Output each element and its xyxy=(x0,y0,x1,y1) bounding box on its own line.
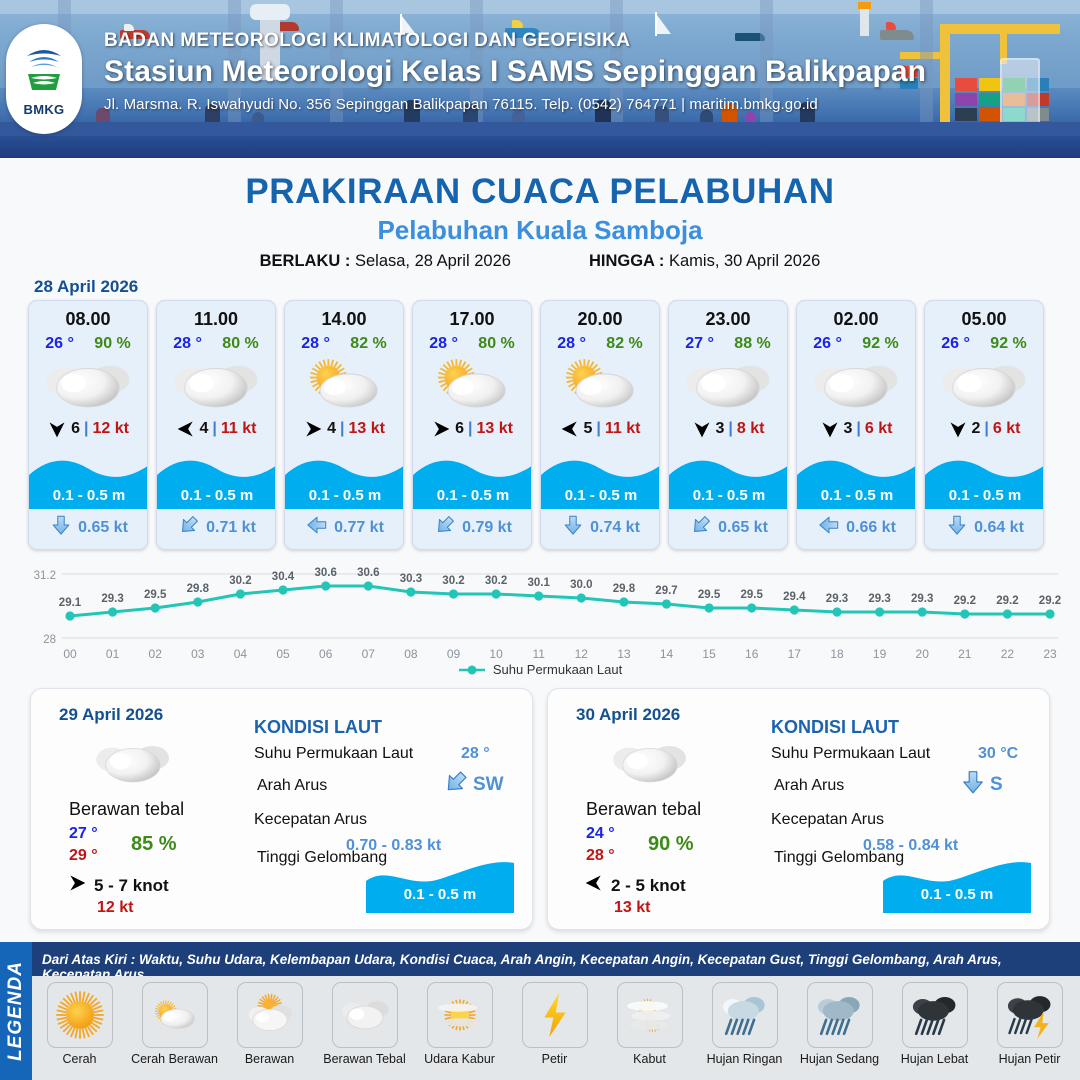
card-temperature: 26 ° xyxy=(941,335,970,353)
legend-item-label: Cerah Berawan xyxy=(131,1052,218,1066)
card-weather-icon xyxy=(413,357,531,411)
panel-sst-value: 30 °C xyxy=(978,745,1018,763)
svg-text:11: 11 xyxy=(532,647,545,661)
legend-icon-sun-cloud-icon xyxy=(142,982,208,1048)
card-humidity: 80 % xyxy=(478,335,514,353)
legend-icon-thunderstorm-icon xyxy=(997,982,1063,1048)
svg-text:29.5: 29.5 xyxy=(741,589,764,601)
card-current-speed: 0.64 kt xyxy=(974,519,1024,537)
svg-text:30.4: 30.4 xyxy=(272,571,295,583)
hourly-forecast-cards: 08.00 26 ° 90 % 6 | 12 kt 0.1 - 0. xyxy=(28,300,1052,550)
legend-icon-sun-icon xyxy=(47,982,113,1048)
hourly-card: 11.00 28 ° 80 % 4 | 11 kt 0.1 - 0. xyxy=(156,300,276,550)
card-time: 20.00 xyxy=(541,309,659,330)
panel-temp-min: 27 ° xyxy=(69,825,98,843)
legend-item-label: Hujan Sedang xyxy=(800,1052,879,1066)
legend-icon-sun-clouds-icon xyxy=(237,982,303,1048)
legend-icon-heavy-rain-icon xyxy=(902,982,968,1048)
card-time: 23.00 xyxy=(669,309,787,330)
hourly-card: 23.00 27 ° 88 % 3 | 8 kt 0.1 - 0.5 xyxy=(668,300,788,550)
card-separator: | xyxy=(340,420,344,438)
hingga-group: HINGGA : Kamis, 30 April 2026 xyxy=(589,252,820,271)
card-humidity: 82 % xyxy=(350,335,386,353)
svg-text:16: 16 xyxy=(745,647,759,661)
svg-text:29.2: 29.2 xyxy=(954,595,976,607)
card-wind-speed: 6 xyxy=(71,420,80,438)
card-wave-band: 0.1 - 0.5 m xyxy=(29,455,148,509)
card-humidity: 80 % xyxy=(222,335,258,353)
card-humidity: 90 % xyxy=(94,335,130,353)
svg-text:30.6: 30.6 xyxy=(315,567,337,579)
panel-current-dir-group: S xyxy=(960,769,1003,800)
svg-text:05: 05 xyxy=(276,647,290,661)
card-weather-icon xyxy=(285,357,403,411)
svg-text:30.2: 30.2 xyxy=(485,575,507,587)
hourly-card: 02.00 26 ° 92 % 3 | 6 kt 0.1 - 0.5 xyxy=(796,300,916,550)
panel-current-speed-label: Kecepatan Arus xyxy=(254,811,367,829)
svg-text:29.3: 29.3 xyxy=(826,593,848,605)
panel-sst-label: Suhu Permukaan Laut xyxy=(771,745,930,763)
hourly-card: 05.00 26 ° 92 % 2 | 6 kt 0.1 - 0.5 xyxy=(924,300,1044,550)
svg-text:29.5: 29.5 xyxy=(144,589,167,601)
panel-current-dir-label: Arah Arus xyxy=(774,777,844,795)
card-weather-icon xyxy=(797,357,915,411)
hourly-card: 14.00 28 ° 82 % 4 | 13 kt xyxy=(284,300,404,550)
panel-current-speed-label: Kecepatan Arus xyxy=(771,811,884,829)
panel-current-dir-label: Arah Arus xyxy=(257,777,327,795)
hourly-card: 20.00 28 ° 82 % 5 | 11 kt xyxy=(540,300,660,550)
card-wind-speed: 3 xyxy=(716,420,725,438)
wind-direction-icon xyxy=(820,419,840,439)
current-direction-icon xyxy=(50,514,72,541)
hourly-date-label: 28 April 2026 xyxy=(34,277,138,297)
card-temperature: 27 ° xyxy=(685,335,714,353)
daily-forecast-panel: 30 April 2026 Berawan tebal 24 ° 28 ° 90… xyxy=(547,688,1050,930)
card-gust: 13 kt xyxy=(476,420,512,438)
svg-text:04: 04 xyxy=(234,647,248,661)
legend-item: Cerah xyxy=(32,982,127,1066)
legend-item: Berawan xyxy=(222,982,317,1066)
legend-item-label: Berawan xyxy=(245,1052,294,1066)
hingga-value: Kamis, 30 April 2026 xyxy=(669,252,820,270)
card-weather-icon xyxy=(541,357,659,411)
panel-wave-band xyxy=(883,857,1031,913)
panel-wind-range: 2 - 5 knot xyxy=(611,876,686,896)
hourly-card: 08.00 26 ° 90 % 6 | 12 kt 0.1 - 0. xyxy=(28,300,148,550)
svg-text:30.6: 30.6 xyxy=(357,567,379,579)
card-weather-icon xyxy=(925,357,1043,411)
card-separator: | xyxy=(728,420,732,438)
card-weather-icon xyxy=(157,357,275,411)
svg-text:00: 00 xyxy=(63,647,77,661)
bmkg-logo-text: BMKG xyxy=(24,102,65,117)
panel-current-direction-icon xyxy=(960,769,986,800)
card-temperature: 28 ° xyxy=(557,335,586,353)
card-wave-height: 0.1 - 0.5 m xyxy=(797,487,916,504)
card-separator: | xyxy=(856,420,860,438)
panel-wind: 5 - 7 knot xyxy=(67,873,169,898)
card-gust: 13 kt xyxy=(348,420,384,438)
header-banner: BMKG BADAN METEOROLOGI KLIMATOLOGI DAN G… xyxy=(0,0,1080,158)
legend-item: Cerah Berawan xyxy=(127,982,222,1066)
legend-icon-lightning-icon xyxy=(522,982,588,1048)
panel-current-direction-icon xyxy=(443,769,469,800)
card-current-speed: 0.77 kt xyxy=(334,519,384,537)
panel-weather-icon xyxy=(610,737,690,787)
legend-item-label: Udara Kabur xyxy=(424,1052,495,1066)
card-wave-height: 0.1 - 0.5 m xyxy=(925,487,1044,504)
svg-text:30.3: 30.3 xyxy=(400,573,422,585)
panel-sea-title: KONDISI LAUT xyxy=(254,717,382,738)
panel-wave-band xyxy=(366,857,514,913)
page-title: PRAKIRAAN CUACA PELABUHAN xyxy=(0,172,1080,212)
svg-text:29.3: 29.3 xyxy=(911,593,933,605)
svg-text:29.2: 29.2 xyxy=(996,595,1018,607)
card-wave-height: 0.1 - 0.5 m xyxy=(669,487,788,504)
svg-text:30.2: 30.2 xyxy=(442,575,464,587)
panel-wind-direction-icon xyxy=(67,873,87,898)
panel-current-dir-group: SW xyxy=(443,769,504,800)
berlaku-label: BERLAKU : xyxy=(260,252,351,270)
svg-text:06: 06 xyxy=(319,647,333,661)
card-wave-band: 0.1 - 0.5 m xyxy=(925,455,1044,509)
current-direction-icon xyxy=(562,514,584,541)
card-wave-band: 0.1 - 0.5 m xyxy=(797,455,916,509)
card-wave-band: 0.1 - 0.5 m xyxy=(157,455,276,509)
daily-forecast-panels: 29 April 2026 Berawan tebal 27 ° 29 ° 85… xyxy=(30,688,1050,930)
svg-text:29.3: 29.3 xyxy=(101,593,123,605)
panel-sst-value: 28 ° xyxy=(461,745,490,763)
card-current-speed: 0.79 kt xyxy=(462,519,512,537)
svg-text:02: 02 xyxy=(149,647,163,661)
svg-text:29.7: 29.7 xyxy=(655,585,677,597)
legend-item-label: Berawan Tebal xyxy=(323,1052,405,1066)
station-name: Stasiun Meteorologi Kelas I SAMS Sepingg… xyxy=(104,55,1044,89)
legend-item: Berawan Tebal xyxy=(317,982,412,1066)
card-humidity: 82 % xyxy=(606,335,642,353)
svg-text:12: 12 xyxy=(575,647,589,661)
svg-text:18: 18 xyxy=(830,647,844,661)
card-gust: 6 kt xyxy=(865,420,893,438)
current-direction-icon xyxy=(818,514,840,541)
svg-text:29.2: 29.2 xyxy=(1039,595,1061,607)
svg-text:10: 10 xyxy=(489,647,503,661)
wind-direction-icon xyxy=(692,419,712,439)
legend-icon-moderate-rain-icon xyxy=(807,982,873,1048)
legend-item: Hujan Sedang xyxy=(792,982,887,1066)
sst-chart-svg: 31.22829.129.329.529.830.230.430.630.630… xyxy=(18,560,1062,670)
svg-text:14: 14 xyxy=(660,647,674,661)
panel-wind-range: 5 - 7 knot xyxy=(94,876,169,896)
card-gust: 11 kt xyxy=(221,420,257,438)
svg-text:29.5: 29.5 xyxy=(698,589,721,601)
legend-icon-clouds-icon xyxy=(332,982,398,1048)
panel-date: 29 April 2026 xyxy=(59,705,163,725)
legend-item-label: Cerah xyxy=(62,1052,96,1066)
card-gust: 11 kt xyxy=(605,420,641,438)
svg-text:09: 09 xyxy=(447,647,461,661)
svg-text:29.8: 29.8 xyxy=(613,583,636,595)
current-direction-icon xyxy=(690,514,712,541)
card-wave-band: 0.1 - 0.5 m xyxy=(541,455,660,509)
card-time: 17.00 xyxy=(413,309,531,330)
svg-text:31.2: 31.2 xyxy=(34,570,56,582)
card-separator: | xyxy=(596,420,600,438)
svg-text:15: 15 xyxy=(702,647,716,661)
card-gust: 12 kt xyxy=(92,420,128,438)
svg-text:01: 01 xyxy=(106,647,120,661)
svg-text:19: 19 xyxy=(873,647,887,661)
daily-forecast-panel: 29 April 2026 Berawan tebal 27 ° 29 ° 85… xyxy=(30,688,533,930)
hourly-card: 17.00 28 ° 80 % 6 | 13 kt xyxy=(412,300,532,550)
chart-legend: Suhu Permukaan Laut xyxy=(0,662,1080,677)
card-current-speed: 0.66 kt xyxy=(846,519,896,537)
card-temperature: 26 ° xyxy=(45,335,74,353)
wind-direction-icon xyxy=(47,419,67,439)
legend-item: Hujan Lebat xyxy=(887,982,982,1066)
page-subtitle: Pelabuhan Kuala Samboja xyxy=(0,215,1080,246)
svg-text:23: 23 xyxy=(1043,647,1057,661)
card-wind-speed: 6 xyxy=(455,420,464,438)
svg-text:29.4: 29.4 xyxy=(783,591,806,603)
card-separator: | xyxy=(84,420,88,438)
legend-item: Udara Kabur xyxy=(412,982,507,1066)
card-wave-height: 0.1 - 0.5 m xyxy=(541,487,660,504)
panel-gust: 12 kt xyxy=(97,899,133,917)
station-address: Jl. Marsma. R. Iswahyudi No. 356 Sepingg… xyxy=(104,96,1044,113)
card-time: 11.00 xyxy=(157,309,275,330)
panel-weather-icon xyxy=(93,737,173,787)
card-temperature: 28 ° xyxy=(429,335,458,353)
card-current-speed: 0.65 kt xyxy=(78,519,128,537)
svg-text:22: 22 xyxy=(1001,647,1015,661)
card-humidity: 92 % xyxy=(862,335,898,353)
card-gust: 8 kt xyxy=(737,420,765,438)
current-direction-icon xyxy=(178,514,200,541)
panel-condition: Berawan tebal xyxy=(69,799,184,820)
wind-direction-icon xyxy=(948,419,968,439)
card-gust: 6 kt xyxy=(993,420,1021,438)
panel-sst-label: Suhu Permukaan Laut xyxy=(254,745,413,763)
card-wave-height: 0.1 - 0.5 m xyxy=(413,487,532,504)
svg-text:30.0: 30.0 xyxy=(570,579,592,591)
card-current-speed: 0.74 kt xyxy=(590,519,640,537)
hingga-label: HINGGA : xyxy=(589,252,664,270)
legend-side-tab: LEGENDA xyxy=(0,942,32,1080)
panel-wind-direction-icon xyxy=(584,873,604,898)
card-time: 08.00 xyxy=(29,309,147,330)
svg-text:13: 13 xyxy=(617,647,631,661)
svg-text:21: 21 xyxy=(958,647,972,661)
legend-item: Kabut xyxy=(602,982,697,1066)
agency-name: BADAN METEOROLOGI KLIMATOLOGI DAN GEOFIS… xyxy=(104,30,1044,52)
legend-side-label: LEGENDA xyxy=(5,961,27,1061)
svg-text:30.2: 30.2 xyxy=(229,575,251,587)
validity-row: BERLAKU : Selasa, 28 April 2026 HINGGA :… xyxy=(0,252,1080,271)
panel-sea-title: KONDISI LAUT xyxy=(771,717,899,738)
svg-text:17: 17 xyxy=(788,647,802,661)
card-temperature: 28 ° xyxy=(301,335,330,353)
card-humidity: 92 % xyxy=(990,335,1026,353)
panel-wave-value: 0.1 - 0.5 m xyxy=(366,886,514,903)
current-direction-icon xyxy=(946,514,968,541)
legend-item-label: Hujan Lebat xyxy=(901,1052,968,1066)
svg-text:07: 07 xyxy=(362,647,376,661)
legend-item-label: Hujan Ringan xyxy=(707,1052,783,1066)
panel-temp-max: 29 ° xyxy=(69,847,98,865)
panel-wave-value: 0.1 - 0.5 m xyxy=(883,886,1031,903)
chart-legend-marker-icon xyxy=(458,664,486,676)
panel-current-dir-value: S xyxy=(990,774,1003,796)
berlaku-group: BERLAKU : Selasa, 28 April 2026 xyxy=(260,252,511,271)
card-time: 02.00 xyxy=(797,309,915,330)
card-wind-speed: 4 xyxy=(327,420,336,438)
card-separator: | xyxy=(984,420,988,438)
bmkg-logo: BMKG xyxy=(6,24,82,134)
current-direction-icon xyxy=(434,514,456,541)
card-wave-band: 0.1 - 0.5 m xyxy=(413,455,532,509)
wind-direction-icon xyxy=(176,419,196,439)
card-temperature: 28 ° xyxy=(173,335,202,353)
card-wind-speed: 2 xyxy=(972,420,981,438)
svg-text:28: 28 xyxy=(43,634,56,646)
legend-item-label: Kabut xyxy=(633,1052,666,1066)
legend-icon-haze-icon xyxy=(427,982,493,1048)
legend-icon-fog-icon xyxy=(617,982,683,1048)
panel-humidity: 85 % xyxy=(131,833,177,856)
card-time: 05.00 xyxy=(925,309,1043,330)
legend-item-label: Hujan Petir xyxy=(999,1052,1061,1066)
panel-condition: Berawan tebal xyxy=(586,799,701,820)
panel-current-dir-value: SW xyxy=(473,774,504,796)
legend-footer: LEGENDA Dari Atas Kiri : Waktu, Suhu Uda… xyxy=(0,942,1080,1080)
card-time: 14.00 xyxy=(285,309,403,330)
card-wind-speed: 3 xyxy=(844,420,853,438)
panel-temp-max: 28 ° xyxy=(586,847,615,865)
panel-temp-min: 24 ° xyxy=(586,825,615,843)
card-separator: | xyxy=(212,420,216,438)
svg-text:30.1: 30.1 xyxy=(528,577,551,589)
panel-gust: 13 kt xyxy=(614,899,650,917)
legend-icon-strip: Cerah Cerah Berawan Berawan xyxy=(32,976,1080,1080)
card-wave-band: 0.1 - 0.5 m xyxy=(669,455,788,509)
legend-icon-light-rain-icon xyxy=(712,982,778,1048)
legend-item: Petir xyxy=(507,982,602,1066)
svg-text:29.1: 29.1 xyxy=(59,597,82,609)
card-wave-height: 0.1 - 0.5 m xyxy=(29,487,148,504)
bmkg-logo-icon xyxy=(21,42,67,100)
legend-item: Hujan Petir xyxy=(982,982,1077,1066)
svg-text:29.8: 29.8 xyxy=(187,583,210,595)
card-separator: | xyxy=(468,420,472,438)
wind-direction-icon xyxy=(560,419,580,439)
wind-direction-icon xyxy=(303,419,323,439)
current-direction-icon xyxy=(306,514,328,541)
chart-legend-label: Suhu Permukaan Laut xyxy=(493,662,622,677)
legend-item-label: Petir xyxy=(542,1052,568,1066)
svg-text:20: 20 xyxy=(916,647,930,661)
card-wind-speed: 5 xyxy=(584,420,593,438)
card-wave-height: 0.1 - 0.5 m xyxy=(285,487,404,504)
panel-humidity: 90 % xyxy=(648,833,694,856)
panel-wind: 2 - 5 knot xyxy=(584,873,686,898)
card-current-speed: 0.65 kt xyxy=(718,519,768,537)
berlaku-value: Selasa, 28 April 2026 xyxy=(355,252,511,270)
card-humidity: 88 % xyxy=(734,335,770,353)
card-weather-icon xyxy=(29,357,147,411)
svg-text:03: 03 xyxy=(191,647,205,661)
svg-text:08: 08 xyxy=(404,647,418,661)
legend-item: Hujan Ringan xyxy=(697,982,792,1066)
card-wind-speed: 4 xyxy=(200,420,209,438)
card-current-speed: 0.71 kt xyxy=(206,519,256,537)
svg-text:29.3: 29.3 xyxy=(868,593,890,605)
card-wave-height: 0.1 - 0.5 m xyxy=(157,487,276,504)
card-temperature: 26 ° xyxy=(813,335,842,353)
card-wave-band: 0.1 - 0.5 m xyxy=(285,455,404,509)
wind-direction-icon xyxy=(431,419,451,439)
panel-date: 30 April 2026 xyxy=(576,705,680,725)
card-weather-icon xyxy=(669,357,787,411)
